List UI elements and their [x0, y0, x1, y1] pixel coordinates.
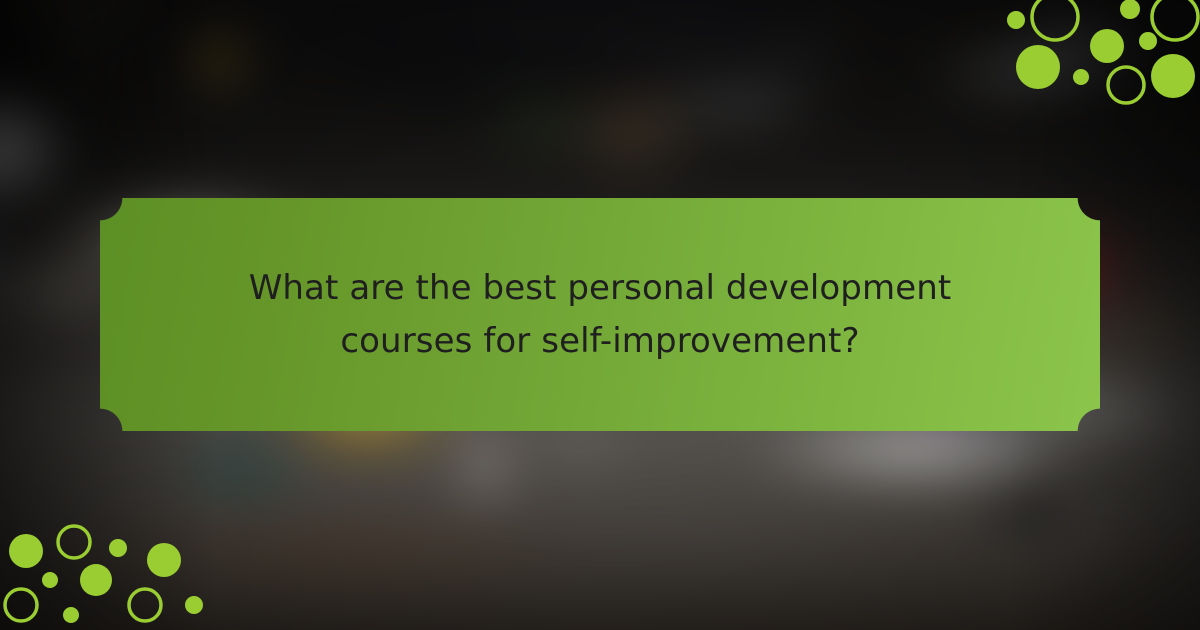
social-card-canvas: What are the best personal development c…: [0, 0, 1200, 630]
question-card: What are the best personal development c…: [100, 198, 1100, 431]
question-text: What are the best personal development c…: [220, 262, 980, 367]
